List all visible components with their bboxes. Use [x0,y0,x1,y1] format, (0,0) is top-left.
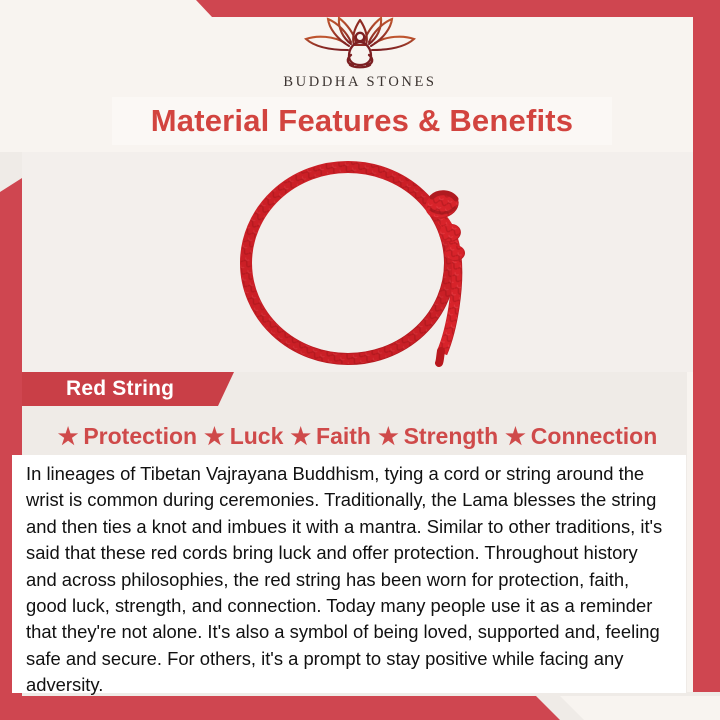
brand-name: BUDDHA STONES [283,74,436,91]
benefit-label: Strength [404,423,499,450]
star-icon: ★ [505,425,526,448]
star-icon: ★ [290,425,311,448]
benefit-item-luck: ★ Luck [204,423,283,450]
title-banner: Material Features & Benefits [112,97,612,145]
decor-bottom-right-fill [560,696,720,720]
star-icon: ★ [378,425,399,448]
star-icon: ★ [58,425,79,448]
benefit-label: Protection [83,423,197,450]
description-panel: In lineages of Tibetan Vajrayana Buddhis… [12,455,686,693]
red-string-bracelet-image [228,157,488,367]
decor-right-red-band [693,0,720,692]
benefit-item-connection: ★ Connection [505,423,657,450]
product-image-area [22,152,693,372]
benefit-item-strength: ★ Strength [378,423,498,450]
product-name-banner: Red String [22,372,234,406]
brand-logo: BUDDHA STONES [0,14,720,94]
benefit-label: Faith [316,423,371,450]
description-text: In lineages of Tibetan Vajrayana Buddhis… [26,461,672,699]
benefit-item-protection: ★ Protection [58,423,197,450]
benefit-label: Luck [230,423,284,450]
star-icon: ★ [204,425,225,448]
benefit-item-faith: ★ Faith [290,423,371,450]
benefits-row: ★ Protection ★ Luck ★ Faith ★ Strength ★… [22,418,693,454]
page-title: Material Features & Benefits [151,103,574,139]
benefit-label: Connection [531,423,658,450]
infographic-page: BUDDHA STONES Material Features & Benefi… [0,0,720,720]
product-name-label: Red String [22,377,174,401]
lotus-meditation-icon [301,14,419,72]
